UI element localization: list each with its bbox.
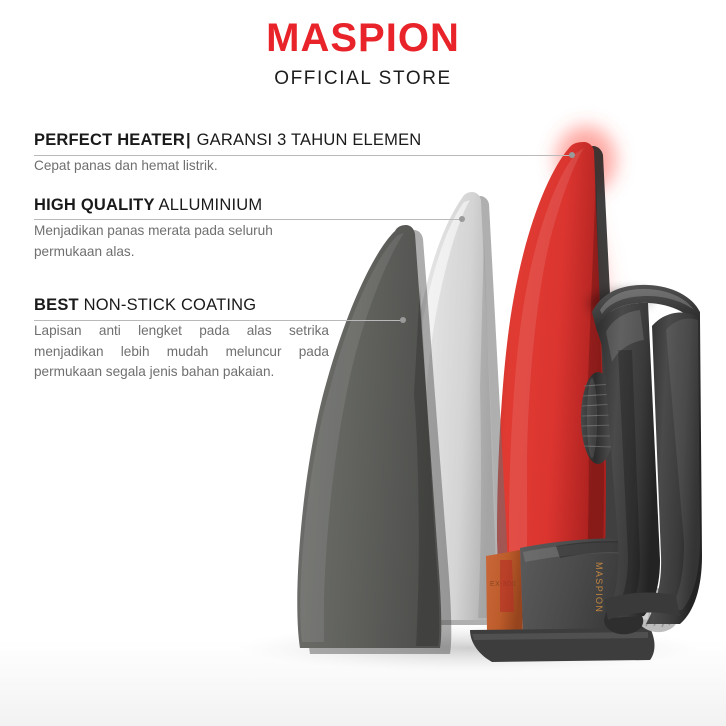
feature-high-quality: HIGH QUALITY ALLUMINIUM Menjadikan panas… xyxy=(34,196,364,262)
feature-heading-rest: GARANSI 3 TAHUN ELEMEN xyxy=(197,131,422,149)
feature-perfect-heater: PERFECT HEATER| GARANSI 3 TAHUN ELEMEN C… xyxy=(34,131,554,177)
feature-body-non-stick: Lapisan anti lengket pada alas setrika m… xyxy=(34,321,329,383)
feature-heading-perfect-heater: PERFECT HEATER| GARANSI 3 TAHUN ELEMEN xyxy=(34,131,554,149)
feature-heading-non-stick: BEST NON-STICK COATING xyxy=(34,296,344,314)
feature-heading-separator: | xyxy=(185,131,192,149)
feature-heading-high-quality: HIGH QUALITY ALLUMINIUM xyxy=(34,196,364,214)
feature-body-perfect-heater: Cepat panas dan hemat listrik. xyxy=(34,156,394,177)
feature-heading-strong: HIGH QUALITY xyxy=(34,196,155,214)
feature-heading-rest: ALLUMINIUM xyxy=(159,196,263,214)
feature-heading-strong: PERFECT HEATER xyxy=(34,131,185,149)
leader-dot-non-stick xyxy=(400,317,406,323)
body-brand-label: MASPION xyxy=(594,562,604,613)
feature-non-stick: BEST NON-STICK COATING Lapisan anti leng… xyxy=(34,296,344,383)
leader-dot-perfect-heater xyxy=(569,152,575,158)
plate-edge-shade xyxy=(500,560,514,612)
leader-dot-high-quality xyxy=(459,216,465,222)
feature-heading-strong: BEST xyxy=(34,296,79,314)
feature-heading-rest: NON-STICK COATING xyxy=(84,296,257,314)
product-feature-poster: MASPION OFFICIAL STORE xyxy=(0,0,726,726)
feature-body-high-quality: Menjadikan panas merata pada seluruh per… xyxy=(34,221,312,262)
